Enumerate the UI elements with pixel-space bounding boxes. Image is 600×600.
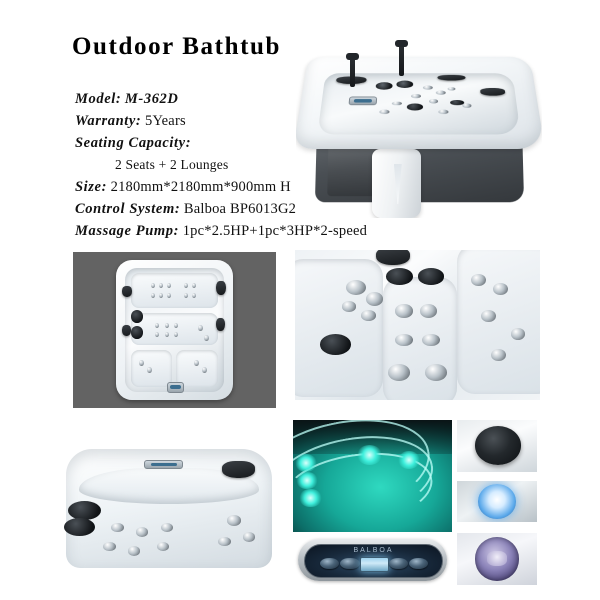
diverter-knob [68,501,101,520]
led-light [357,445,382,465]
balboa-brand-label: BALBOA [305,547,442,554]
jet [103,542,115,551]
jet [151,283,155,288]
led-light [295,454,317,472]
headrest-pillow [222,461,255,478]
jet [243,532,255,541]
speaker [396,81,413,88]
jet [136,527,148,536]
jet [423,86,433,90]
spec-label: Model: [75,91,121,107]
acrylic-shell [296,57,542,149]
jet [392,101,402,105]
jet [491,349,506,361]
purple-jet-thumbnail [457,533,537,585]
headrest-pillow [122,325,131,336]
diverter-knob [475,426,521,464]
spec-label: Massage Pump: [75,223,179,239]
bucket-seat [131,350,173,387]
jets-closeup-photo [295,250,540,400]
jet [511,328,526,340]
diverter-knob-thumbnail [457,420,537,472]
jet [155,332,159,337]
pillar-stand [399,45,404,76]
lounge-moulding [457,250,540,394]
tub-body [116,260,234,400]
topside-control [349,96,377,105]
led-light [299,489,321,507]
jet [475,537,520,581]
jet [420,304,437,318]
topside-control [144,460,183,469]
jet [159,283,163,288]
spec-label: Warranty: [75,113,141,129]
jet [439,110,449,114]
jet [159,293,163,298]
panel-button-2[interactable] [340,558,359,569]
jet [346,280,366,295]
panel-button-1[interactable] [320,558,339,569]
jet [462,104,472,108]
hero-hot-tub-photo [296,36,542,218]
corner-post [372,149,421,218]
panel-button-4[interactable] [409,558,428,569]
top-down-hot-tub-photo [73,252,276,408]
diverter-knob [64,518,95,536]
footwell-moulding [383,277,457,400]
jet [342,301,357,312]
jet [165,332,169,337]
interior-view-photo [62,438,276,576]
led-light [478,484,516,518]
spec-value: 2180mm*2180mm*900mm H [111,179,291,195]
diverter-knob [386,268,413,285]
jet [395,334,412,346]
spec-value: M-362D [125,91,179,107]
jet [128,546,140,555]
jet [167,283,171,288]
diverter-knob [131,326,143,338]
jet [147,367,152,373]
jet [366,292,383,306]
jet [139,360,144,366]
jet [361,310,376,321]
diverter-knob [418,268,445,285]
headrest-pillow [122,286,132,297]
jet [388,364,410,381]
balboa-control-panel-photo: BALBOA [293,535,452,585]
jet [111,523,123,532]
jet [165,323,169,328]
product-spec-sheet: Outdoor Bathtub Model: M-362D Warranty: … [0,0,600,600]
spec-label: Control System: [75,201,180,217]
shell-interior [66,449,271,568]
jet [227,515,241,526]
jet [157,542,169,551]
speaker [375,82,392,89]
jet [151,293,155,298]
diverter-knob [131,310,143,322]
spec-label: Seating Capacity: [75,135,191,151]
jet [155,323,159,328]
headrest-pillow [216,318,225,332]
spec-row-massage-pump: Massage Pump: 1pc*2.5HP+1pc*3HP*2-speed [75,220,405,242]
spec-value: 5Years [145,113,186,129]
diverter-knob [407,104,423,111]
jet [379,110,389,114]
topside-control [167,382,185,393]
headrest-pillow [216,281,226,296]
page-title: Outdoor Bathtub [72,33,281,61]
lounge-seat [131,273,218,308]
jet [429,99,439,103]
pillar-stand [350,58,355,87]
bucket-seat [176,350,218,387]
spec-label: Size: [75,179,107,195]
spec-value: 2 Seats + 2 Lounges [115,157,228,172]
hot-tub-illustration [296,36,542,218]
jet [481,310,496,322]
panel-bezel: BALBOA [298,539,447,581]
jet [422,334,439,346]
jet [436,90,446,94]
led-light-thumbnail [457,481,537,522]
tub-interior [125,268,224,392]
headrest-pillow [376,250,410,265]
jet [218,537,230,546]
basin [318,73,521,134]
spec-value: 1pc*2.5HP+1pc*3HP*2-speed [183,223,367,239]
headrest-pillow [480,88,506,95]
panel-lcd-display [360,557,389,572]
panel-button-3[interactable] [389,558,408,569]
jet [471,274,486,286]
jet [167,293,171,298]
jet [194,360,199,366]
jet [395,304,412,318]
diverter-knob [320,334,352,355]
jet [411,94,421,98]
jet [448,87,456,91]
headrest-pillow [438,74,466,80]
panel-face: BALBOA [304,544,443,578]
jet [425,364,447,381]
jet [161,523,173,532]
illuminated-water-photo [293,420,452,532]
seat-moulding [295,259,383,397]
